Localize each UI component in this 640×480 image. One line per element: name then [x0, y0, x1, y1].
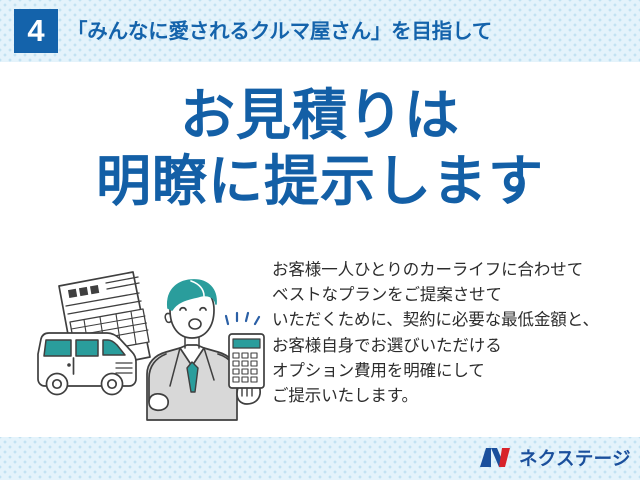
brand-name: ネクステージ	[519, 446, 631, 472]
headline-line-2: 明瞭に提示します	[0, 148, 640, 214]
body-copy: お客様一人ひとりのカーライフに合わせて ベストなプランをご提案させて いただくた…	[272, 258, 632, 409]
illustration-salesman-estimate	[28, 262, 272, 428]
van-icon	[38, 333, 136, 395]
section-number-badge: 4	[14, 9, 58, 53]
calculator-icon	[229, 334, 264, 388]
body-line: ベストなプランをご提案させて	[272, 283, 632, 308]
promo-banner: 4 「みんなに愛されるクルマ屋さん」を目指して お見積りは 明瞭に提示します お…	[0, 0, 640, 480]
header-title: 「みんなに愛されるクルマ屋さん」を目指して	[67, 14, 492, 50]
sparkle-icon	[226, 313, 259, 324]
body-line: お客様一人ひとりのカーライフに合わせて	[272, 258, 632, 283]
headline-line-1: お見積りは	[0, 82, 640, 148]
body-line: いただくために、契約に必要な最低金額と、	[272, 308, 632, 333]
body-line: オプション費用を明確にして	[272, 359, 632, 384]
page-title: お見積りは 明瞭に提示します	[0, 82, 640, 214]
body-line: ご提示いたします。	[272, 384, 632, 409]
body-line: お客様自身でお選びいただける	[272, 334, 632, 359]
nextage-logo-mark-icon	[478, 446, 512, 473]
brand-logo: ネクステージ	[478, 446, 631, 472]
